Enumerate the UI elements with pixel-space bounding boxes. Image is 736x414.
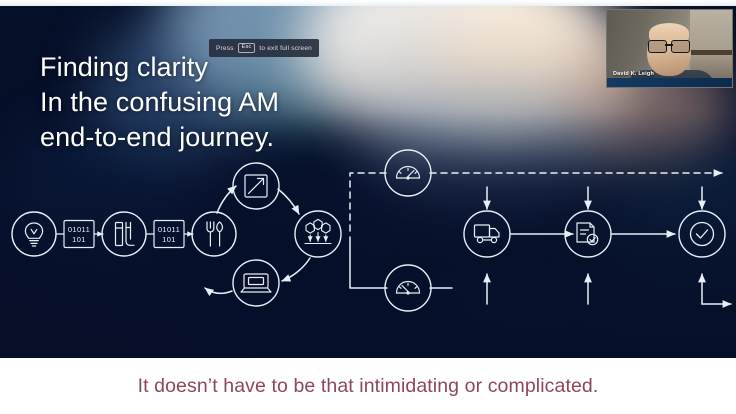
- node-gauge-top: [385, 150, 431, 196]
- node-build: [233, 260, 279, 306]
- node-cad-model: [102, 212, 146, 256]
- caption-band: It doesn’t have to be that intimidating …: [0, 358, 736, 414]
- video-bottom-bar: [607, 78, 732, 87]
- monitoring-rail-top: [350, 173, 722, 231]
- node-approved: [679, 187, 731, 304]
- video-shelf: [690, 50, 733, 55]
- presenter-name-label: David K. Leigh: [613, 71, 654, 77]
- gauge-icon: [397, 167, 420, 180]
- caption-text: It doesn’t have to be that intimidating …: [138, 375, 599, 398]
- lightbulb-icon: [25, 223, 42, 246]
- node-scale: [233, 163, 279, 209]
- check-circle-icon: [691, 223, 714, 246]
- gauge-icon: [397, 282, 420, 295]
- presenter-video-thumbnail[interactable]: David K. Leigh: [606, 9, 733, 88]
- document-stamp-icon: [577, 223, 598, 245]
- node-shipping: [464, 187, 573, 304]
- esc-key-badge: Esc: [238, 43, 256, 53]
- resize-frame-icon: [245, 175, 267, 197]
- node-nesting: [295, 211, 341, 257]
- delivery-truck-icon: [475, 225, 500, 243]
- binary-top-1: 01011: [68, 225, 90, 234]
- esc-tooltip-prefix: Press: [216, 45, 234, 52]
- tools-icon: [207, 222, 222, 246]
- binary-bottom-2: 101: [162, 235, 176, 244]
- binary-bottom-1: 101: [72, 235, 86, 244]
- presenter-glasses: [648, 40, 690, 51]
- node-gauge-bottom: [385, 265, 431, 311]
- node-tooling: [192, 212, 236, 256]
- slide-canvas: Finding clarity In the confusing AM end-…: [0, 6, 736, 358]
- esc-tooltip-suffix: to exit full screen: [259, 45, 312, 52]
- presentation-screen: Finding clarity In the confusing AM end-…: [0, 0, 736, 414]
- exit-fullscreen-tooltip: Press Esc to exit full screen: [209, 39, 319, 57]
- measurement-rail-bottom: [350, 237, 452, 288]
- cad-model-icon: [116, 223, 135, 246]
- binary-top-2: 01011: [158, 225, 180, 234]
- part-nesting-icon: [305, 219, 331, 243]
- node-documents: [565, 187, 675, 304]
- build-plate-icon: [241, 274, 271, 292]
- node-idea: [12, 212, 56, 256]
